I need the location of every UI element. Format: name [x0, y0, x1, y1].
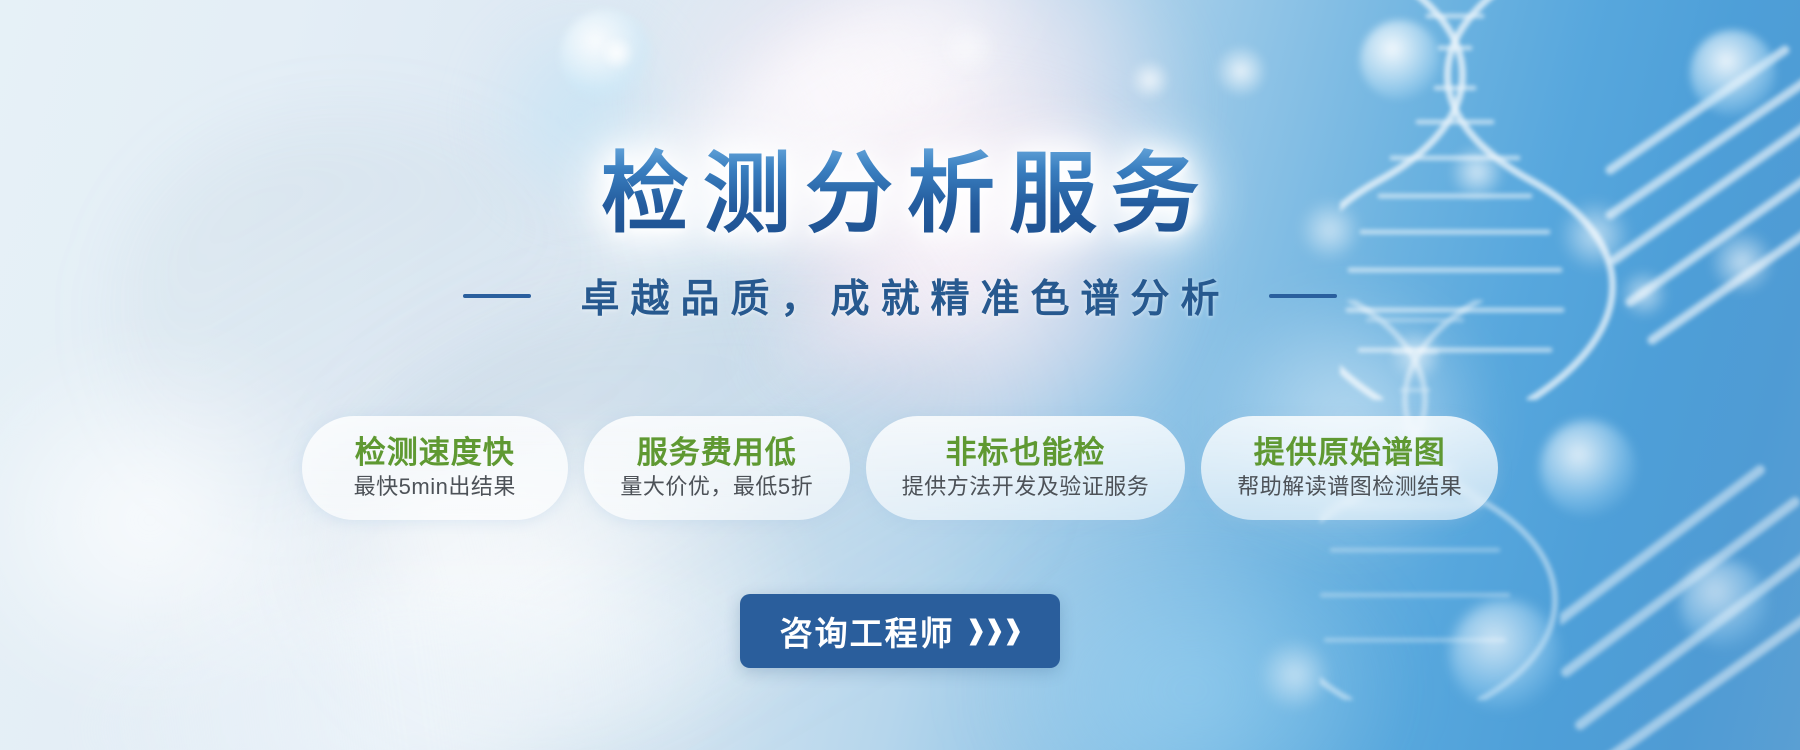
feature-pill-speed[interactable]: 检测速度快 最快5min出结果 — [302, 416, 568, 520]
feature-pill-subtitle: 最快5min出结果 — [354, 474, 516, 499]
cta-row: 咨询工程师 ❱❱❱ — [0, 594, 1800, 668]
page-subtitle: 卓越品质，成就精准色谱分析 — [569, 268, 1230, 324]
feature-pill-spectrum[interactable]: 提供原始谱图 帮助解读谱图检测结果 — [1201, 416, 1498, 520]
feature-pill-title: 提供原始谱图 — [1254, 436, 1446, 470]
hero-banner: 检测分析服务 卓越品质，成就精准色谱分析 检测速度快 最快5min出结果 服务费… — [0, 0, 1800, 750]
feature-pill-list: 检测速度快 最快5min出结果 服务费用低 量大价优，最低5折 非标也能检 提供… — [0, 416, 1800, 520]
dash-right-icon — [1269, 294, 1337, 298]
consult-engineer-button[interactable]: 咨询工程师 ❱❱❱ — [740, 594, 1060, 668]
chevron-right-icon: ❱❱❱ — [965, 615, 1021, 646]
feature-pill-title: 检测速度快 — [355, 436, 515, 470]
dash-left-icon — [463, 294, 531, 298]
feature-pill-title: 非标也能检 — [945, 436, 1105, 470]
feature-pill-subtitle: 提供方法开发及验证服务 — [902, 474, 1150, 499]
feature-pill-price[interactable]: 服务费用低 量大价优，最低5折 — [584, 416, 850, 520]
feature-pill-subtitle: 量大价优，最低5折 — [620, 474, 813, 499]
feature-pill-nonstandard[interactable]: 非标也能检 提供方法开发及验证服务 — [866, 416, 1186, 520]
banner-content: 检测分析服务 卓越品质，成就精准色谱分析 检测速度快 最快5min出结果 服务费… — [0, 0, 1800, 750]
feature-pill-subtitle: 帮助解读谱图检测结果 — [1237, 474, 1462, 499]
feature-pill-title: 服务费用低 — [637, 436, 797, 470]
cta-label: 咨询工程师 — [780, 607, 955, 655]
page-title: 检测分析服务 — [0, 142, 1800, 246]
subtitle-row: 卓越品质，成就精准色谱分析 — [0, 268, 1800, 324]
